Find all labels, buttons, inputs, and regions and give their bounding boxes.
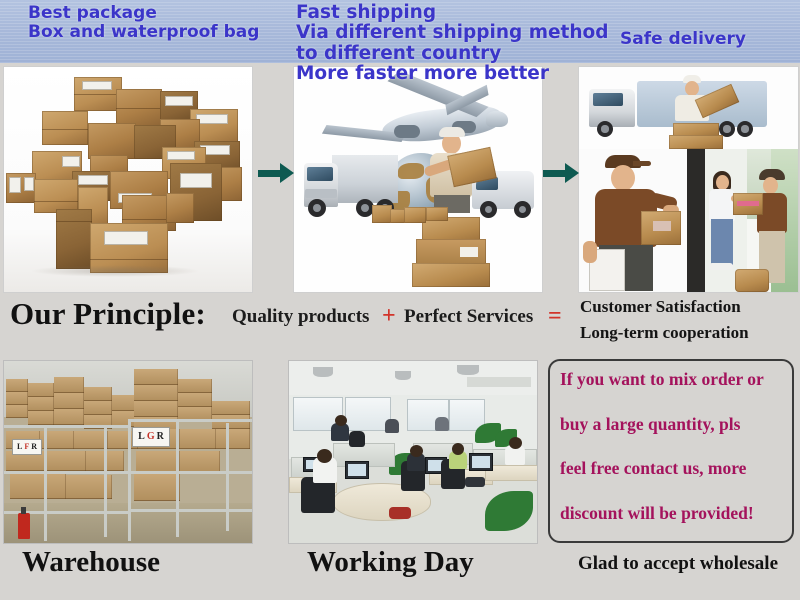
label-warehouse: Warehouse bbox=[22, 546, 160, 579]
working-day-photo bbox=[288, 360, 538, 544]
rack-sign-left-2: R bbox=[31, 443, 37, 451]
fire-extinguisher bbox=[18, 513, 30, 539]
packaging-photo bbox=[3, 66, 253, 293]
equals-operator-icon: = bbox=[548, 303, 562, 330]
label-glad-wholesale: Glad to accept wholesale bbox=[578, 553, 778, 575]
arrow-right-icon-1 bbox=[258, 163, 296, 184]
label-working-day: Working Day bbox=[307, 546, 474, 579]
rack-sign-left-1: F bbox=[24, 443, 29, 451]
header-best-package: Best package Box and waterproof bag bbox=[28, 4, 259, 41]
plus-operator-icon: + bbox=[382, 303, 396, 330]
promo-line-2: buy a large quantity, pls bbox=[560, 416, 784, 434]
rack-sign-left-0: L bbox=[17, 443, 22, 451]
promo-line-3: feel free contact us, more bbox=[560, 460, 784, 478]
rack-sign-right: L G R bbox=[132, 427, 170, 447]
rack-sign-right-2: R bbox=[157, 432, 164, 442]
rack-sign-right-1: G bbox=[147, 432, 155, 442]
principle-title: Our Principle: bbox=[10, 296, 206, 332]
wholesale-promo-box: If you want to mix order or buy a large … bbox=[548, 359, 794, 543]
header-safe-delivery: Safe delivery bbox=[620, 30, 746, 49]
principle-term-quality: Quality products bbox=[232, 306, 369, 328]
promo-line-4: discount will be provided! bbox=[560, 505, 784, 523]
rack-sign-left: L F R bbox=[12, 439, 42, 455]
principle-outcome: Customer Satisfaction Long-term cooperat… bbox=[580, 294, 749, 346]
principle-row: Our Principle: Quality products + Perfec… bbox=[0, 293, 800, 355]
header-fast-shipping: Fast shipping Via different shipping met… bbox=[296, 3, 609, 84]
arrow-right-icon-2 bbox=[543, 163, 581, 184]
principle-term-services: Perfect Services bbox=[404, 306, 533, 328]
warehouse-photo: L F R L G R bbox=[3, 360, 253, 544]
rack-sign-right-0: L bbox=[138, 432, 145, 442]
shipping-methods-photo bbox=[293, 66, 543, 293]
promo-line-1: If you want to mix order or bbox=[560, 371, 784, 389]
safe-delivery-photo bbox=[578, 66, 799, 293]
infographic-canvas: Best package Box and waterproof bag Fast… bbox=[0, 0, 800, 600]
